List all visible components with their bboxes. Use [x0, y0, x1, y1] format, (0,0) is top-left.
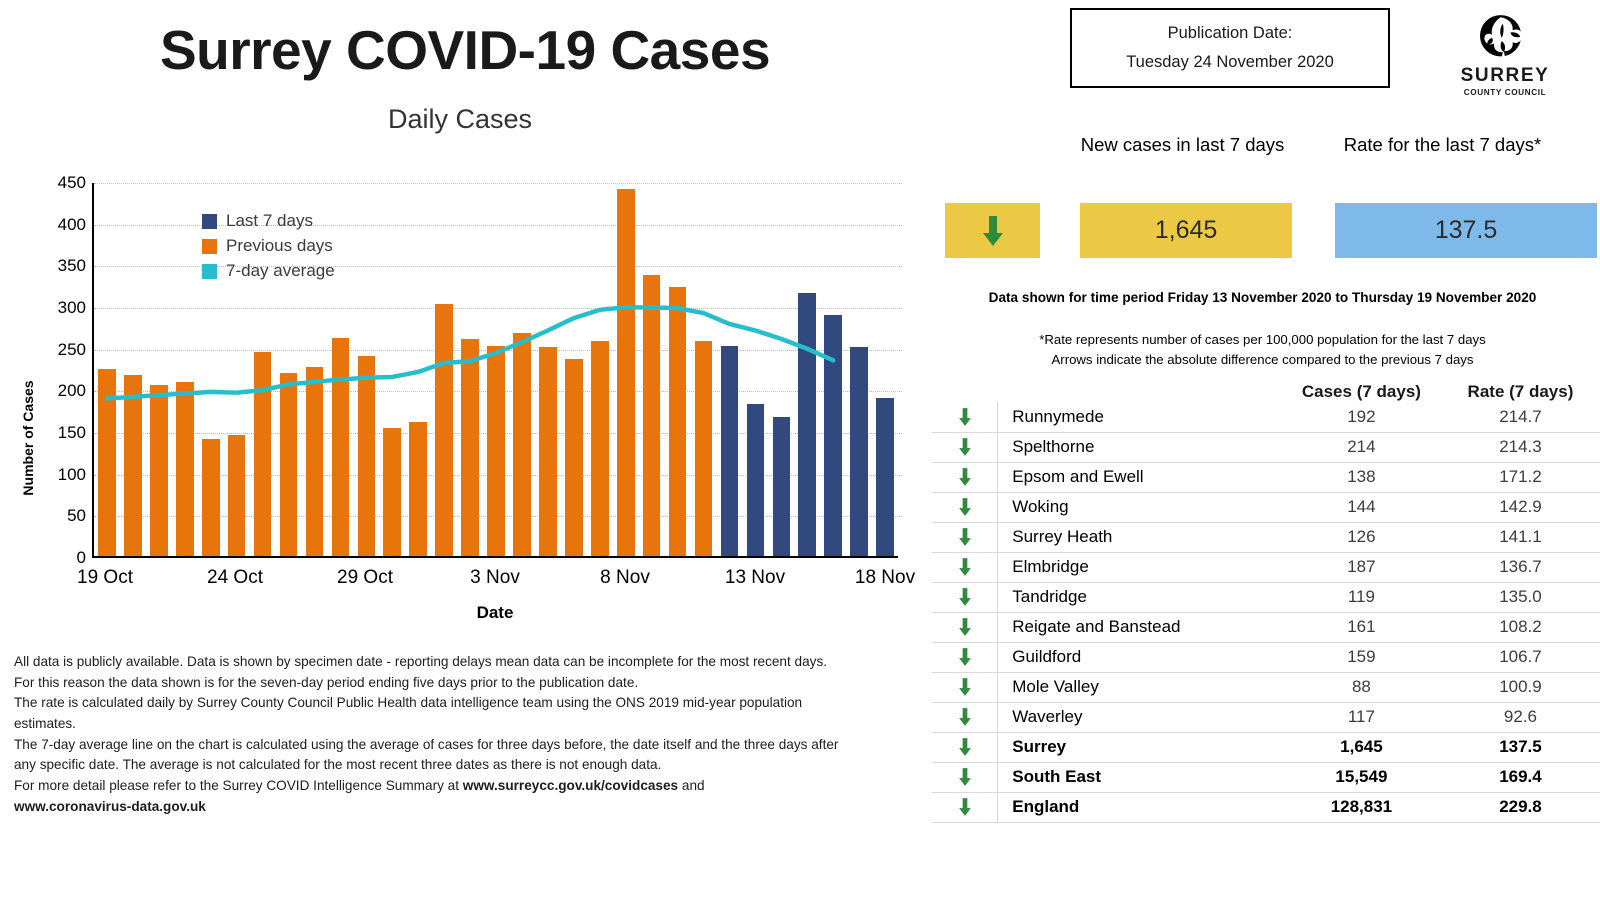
footnote-line: estimates.: [14, 714, 912, 735]
logo-wordmark: SURREY: [1450, 65, 1560, 87]
publication-date-value: Tuesday 24 November 2020: [1126, 48, 1334, 77]
bar[interactable]: [435, 304, 453, 557]
arrow-down-icon: [957, 677, 973, 697]
rate-heading: Rate for the last 7 days*: [1335, 133, 1550, 158]
row-cases-value: 138: [1282, 462, 1441, 492]
table-header-row: Cases (7 days) Rate (7 days): [932, 382, 1600, 402]
row-cases-value: 126: [1282, 522, 1441, 552]
legend-swatch: [202, 239, 217, 254]
legend-label: 7-day average: [226, 261, 335, 281]
logo-subtitle: COUNTY COUNCIL: [1450, 88, 1560, 97]
row-trend-arrow: [932, 462, 998, 492]
bar[interactable]: [669, 287, 687, 556]
bar-slot: [379, 183, 405, 556]
bar[interactable]: [332, 338, 350, 556]
bar-slot: [535, 183, 561, 556]
footnote-text: and: [678, 778, 704, 793]
bar-slot: [613, 183, 639, 556]
row-trend-arrow: [932, 492, 998, 522]
row-trend-arrow: [932, 522, 998, 552]
arrow-down-icon: [957, 797, 973, 817]
bar[interactable]: [254, 352, 272, 556]
table-row[interactable]: Elmbridge187136.7: [932, 552, 1600, 582]
chart-title: Daily Cases: [0, 104, 920, 135]
y-tick-label: 0: [40, 548, 86, 568]
bar[interactable]: [850, 347, 868, 556]
chart-legend: Last 7 daysPrevious days7-day average: [202, 211, 335, 286]
bar-slot: [691, 183, 717, 556]
bar[interactable]: [98, 369, 116, 556]
rate-note-line-2: Arrows indicate the absolute difference …: [930, 350, 1595, 370]
arrow-down-icon: [957, 707, 973, 727]
legend-item[interactable]: Last 7 days: [202, 211, 335, 231]
bar-slot: [820, 183, 846, 556]
row-cases-value: 15,549: [1282, 762, 1441, 792]
row-cases-value: 159: [1282, 642, 1441, 672]
row-trend-arrow: [932, 762, 998, 792]
y-tick-label: 200: [40, 381, 86, 401]
row-trend-arrow: [932, 732, 998, 762]
row-cases-value: 161: [1282, 612, 1441, 642]
arrow-down-icon: [957, 527, 973, 547]
row-cases-value: 119: [1282, 582, 1441, 612]
publication-date-box: Publication Date: Tuesday 24 November 20…: [1070, 8, 1390, 88]
footnote-text: For more detail please refer to the Surr…: [14, 778, 463, 793]
row-rate-value: 229.8: [1441, 792, 1600, 822]
bar[interactable]: [591, 341, 609, 556]
table-row[interactable]: Spelthorne214214.3: [932, 432, 1600, 462]
row-rate-value: 171.2: [1441, 462, 1600, 492]
row-area-name: Tandridge: [998, 582, 1282, 612]
row-cases-value: 117: [1282, 702, 1441, 732]
y-tick-label: 50: [40, 506, 86, 526]
arrow-down-icon: [957, 767, 973, 787]
bar-slot: [742, 183, 768, 556]
arrow-down-icon: [957, 557, 973, 577]
header-area-col: [998, 382, 1282, 402]
bar[interactable]: [747, 404, 765, 556]
bar[interactable]: [383, 428, 401, 556]
row-cases-value: 187: [1282, 552, 1441, 582]
legend-swatch: [202, 264, 217, 279]
page-title: Surrey COVID-19 Cases: [0, 18, 920, 82]
row-rate-value: 135.0: [1441, 582, 1600, 612]
row-area-name: England: [998, 792, 1282, 822]
row-rate-value: 108.2: [1441, 612, 1600, 642]
row-area-name: Surrey: [998, 732, 1282, 762]
bar-slot: [587, 183, 613, 556]
arrow-down-icon: [957, 737, 973, 757]
bar[interactable]: [228, 435, 246, 556]
bar[interactable]: [409, 422, 427, 556]
bar[interactable]: [643, 275, 661, 556]
rate-note-line-1: *Rate represents number of cases per 100…: [930, 330, 1595, 350]
bar-slot: [120, 183, 146, 556]
y-axis-ticks: 050100150200250300350400450: [30, 175, 86, 560]
arrow-down-icon: [957, 617, 973, 637]
row-trend-arrow: [932, 792, 998, 822]
new-cases-value-card: 1,645: [1080, 203, 1292, 258]
bar-slot: [561, 183, 587, 556]
y-tick-label: 350: [40, 256, 86, 276]
rate-note: *Rate represents number of cases per 100…: [930, 330, 1595, 370]
x-tick-label: 29 Oct: [337, 567, 393, 589]
x-axis-ticks: 19 Oct24 Oct29 Oct3 Nov8 Nov13 Nov18 Nov: [92, 567, 898, 597]
surrey-covid-link[interactable]: www.surreycc.gov.uk/covidcases: [463, 778, 678, 793]
footnote-line: The rate is calculated daily by Surrey C…: [14, 693, 912, 714]
row-area-name: South East: [998, 762, 1282, 792]
footnote-line: The 7-day average line on the chart is c…: [14, 735, 912, 756]
publication-date-label: Publication Date:: [1168, 19, 1293, 48]
new-cases-heading: New cases in last 7 days: [1075, 133, 1290, 158]
row-rate-value: 137.5: [1441, 732, 1600, 762]
bar[interactable]: [306, 367, 324, 556]
arrow-down-icon: [957, 647, 973, 667]
row-rate-value: 100.9: [1441, 672, 1600, 702]
header-cases: Cases (7 days): [1282, 382, 1441, 402]
table-row[interactable]: Reigate and Banstead161108.2: [932, 612, 1600, 642]
footnote-line: For this reason the data shown is for th…: [14, 673, 912, 694]
x-axis-title: Date: [92, 603, 898, 623]
arrow-down-icon: [957, 497, 973, 517]
bar[interactable]: [539, 347, 557, 556]
bar-slot: [794, 183, 820, 556]
row-rate-value: 106.7: [1441, 642, 1600, 672]
chart-panel: Surrey COVID-19 Cases Daily Cases Number…: [0, 0, 920, 900]
row-area-name: Surrey Heath: [998, 522, 1282, 552]
table-row[interactable]: Runnymede192214.7: [932, 402, 1600, 432]
row-area-name: Mole Valley: [998, 672, 1282, 702]
row-cases-value: 214: [1282, 432, 1441, 462]
row-rate-value: 141.1: [1441, 522, 1600, 552]
table-body: Runnymede192214.7Spelthorne214214.3Epsom…: [932, 402, 1600, 822]
y-tick-label: 400: [40, 215, 86, 235]
footnote-line: any specific date. The average is not ca…: [14, 755, 912, 776]
row-trend-arrow: [932, 642, 998, 672]
bar[interactable]: [565, 359, 583, 556]
bar[interactable]: [202, 439, 220, 557]
arrow-down-icon: [957, 587, 973, 607]
trend-arrow-card: [945, 203, 1040, 258]
bar[interactable]: [617, 189, 635, 556]
bar-slot: [768, 183, 794, 556]
header-rate: Rate (7 days): [1441, 382, 1600, 402]
footnotes: All data is publicly available. Data is …: [14, 652, 912, 817]
bar-slot: [353, 183, 379, 556]
table-row[interactable]: Mole Valley88100.9: [932, 672, 1600, 702]
coronavirus-data-link[interactable]: www.coronavirus-data.gov.uk: [14, 799, 206, 814]
legend-label: Last 7 days: [226, 211, 313, 231]
x-tick-label: 8 Nov: [600, 567, 650, 589]
rate-value-card: 137.5: [1335, 203, 1597, 258]
oak-leaf-icon: [1477, 14, 1533, 64]
row-rate-value: 169.4: [1441, 762, 1600, 792]
row-rate-value: 214.3: [1441, 432, 1600, 462]
row-trend-arrow: [932, 552, 998, 582]
table-row[interactable]: South East15,549169.4: [932, 762, 1600, 792]
table-row[interactable]: Surrey Heath126141.1: [932, 522, 1600, 552]
row-area-name: Spelthorne: [998, 432, 1282, 462]
coronavirus-data-link-line: www.coronavirus-data.gov.uk: [14, 797, 912, 818]
row-rate-value: 214.7: [1441, 402, 1600, 432]
table-row[interactable]: Tandridge119135.0: [932, 582, 1600, 612]
bar-slot: [639, 183, 665, 556]
bar[interactable]: [176, 382, 194, 556]
row-cases-value: 144: [1282, 492, 1441, 522]
table-row[interactable]: Waverley11792.6: [932, 702, 1600, 732]
row-trend-arrow: [932, 672, 998, 702]
bar[interactable]: [773, 417, 791, 556]
x-tick-label: 24 Oct: [207, 567, 263, 589]
areas-table: Cases (7 days) Rate (7 days) Runnymede19…: [932, 382, 1600, 823]
x-tick-label: 13 Nov: [725, 567, 785, 589]
row-area-name: Epsom and Ewell: [998, 462, 1282, 492]
row-area-name: Guildford: [998, 642, 1282, 672]
footnote-line-with-link: For more detail please refer to the Surr…: [14, 776, 912, 797]
bar[interactable]: [513, 333, 531, 556]
row-trend-arrow: [932, 612, 998, 642]
table-row[interactable]: Surrey1,645137.5: [932, 732, 1600, 762]
legend-item[interactable]: 7-day average: [202, 261, 335, 281]
legend-label: Previous days: [226, 236, 333, 256]
y-tick-label: 450: [40, 173, 86, 193]
legend-swatch: [202, 214, 217, 229]
bar[interactable]: [358, 356, 376, 556]
bar-slot: [146, 183, 172, 556]
surrey-county-council-logo: SURREY COUNTY COUNCIL: [1450, 14, 1560, 99]
row-trend-arrow: [932, 582, 998, 612]
row-area-name: Runnymede: [998, 402, 1282, 432]
row-area-name: Reigate and Banstead: [998, 612, 1282, 642]
table-row[interactable]: Epsom and Ewell138171.2: [932, 462, 1600, 492]
x-tick-label: 18 Nov: [855, 567, 915, 589]
row-cases-value: 88: [1282, 672, 1441, 702]
bar-slot: [172, 183, 198, 556]
arrow-down-icon: [957, 437, 973, 457]
plot-area: Last 7 daysPrevious days7-day average: [92, 183, 898, 558]
row-cases-value: 192: [1282, 402, 1441, 432]
row-rate-value: 92.6: [1441, 702, 1600, 732]
bar[interactable]: [695, 341, 713, 556]
bar[interactable]: [876, 398, 894, 556]
bar[interactable]: [124, 375, 142, 556]
bar[interactable]: [487, 346, 505, 556]
x-tick-label: 19 Oct: [77, 567, 133, 589]
row-area-name: Waverley: [998, 702, 1282, 732]
summary-panel: Publication Date: Tuesday 24 November 20…: [920, 0, 1600, 900]
bar[interactable]: [150, 385, 168, 556]
bar-slot: [457, 183, 483, 556]
x-tick-label: 3 Nov: [470, 567, 520, 589]
y-tick-label: 150: [40, 423, 86, 443]
y-tick-label: 300: [40, 298, 86, 318]
bar[interactable]: [824, 315, 842, 556]
bar[interactable]: [461, 339, 479, 557]
bar-slot: [431, 183, 457, 556]
bar[interactable]: [280, 373, 298, 556]
table-row[interactable]: Woking144142.9: [932, 492, 1600, 522]
bar[interactable]: [721, 346, 739, 556]
row-cases-value: 128,831: [1282, 792, 1441, 822]
y-tick-label: 250: [40, 340, 86, 360]
row-area-name: Elmbridge: [998, 552, 1282, 582]
footnote-line: All data is publicly available. Data is …: [14, 652, 912, 673]
row-trend-arrow: [932, 402, 998, 432]
bar-slot: [405, 183, 431, 556]
daily-cases-chart: Number of Cases 050100150200250300350400…: [0, 175, 920, 645]
bar-slot: [483, 183, 509, 556]
bar-slot: [509, 183, 535, 556]
row-cases-value: 1,645: [1282, 732, 1441, 762]
row-rate-value: 136.7: [1441, 552, 1600, 582]
arrow-down-icon: [980, 214, 1006, 248]
legend-item[interactable]: Previous days: [202, 236, 335, 256]
bar-slot: [846, 183, 872, 556]
y-tick-label: 100: [40, 465, 86, 485]
bar-slot: [94, 183, 120, 556]
row-area-name: Woking: [998, 492, 1282, 522]
row-trend-arrow: [932, 432, 998, 462]
row-rate-value: 142.9: [1441, 492, 1600, 522]
bar[interactable]: [798, 293, 816, 556]
bar-slot: [665, 183, 691, 556]
table-row[interactable]: England128,831229.8: [932, 792, 1600, 822]
bar-slot: [717, 183, 743, 556]
header-arrow-col: [932, 382, 998, 402]
arrow-down-icon: [957, 407, 973, 427]
table-row[interactable]: Guildford159106.7: [932, 642, 1600, 672]
period-note: Data shown for time period Friday 13 Nov…: [930, 290, 1595, 305]
bar-slot: [872, 183, 898, 556]
arrow-down-icon: [957, 467, 973, 487]
row-trend-arrow: [932, 702, 998, 732]
